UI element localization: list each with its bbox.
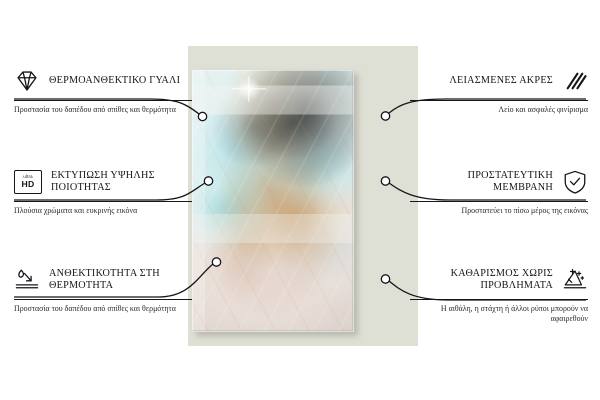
easy-cleaning-icon	[562, 267, 588, 293]
feature-divider	[14, 100, 192, 101]
ultra-hd-badge-icon: ultra HD	[14, 170, 42, 194]
feature-title: ΘΕΡΜΟΑΝΘΕΚΤΙΚΟ ΓΥΑΛΙ	[49, 75, 192, 87]
feature-head: ΠΡΟΣΤΑΤΕΥΤΙΚΗ ΜΕΜΒΡΑΝΗ	[410, 167, 588, 197]
feature-divider	[410, 299, 588, 300]
feature-polished-edges: ΛΕΙΑΣΜΕΝΕΣ ΑΚΡΕΣ Λείο και ασφαλές φινίρι…	[410, 66, 588, 115]
feature-head: ΘΕΡΜΟΑΝΘΕΚΤΙΚΟ ΓΥΑΛΙ	[14, 66, 192, 96]
feature-title: ΚΑΘΑΡΙΣΜΟΣ ΧΩΡΙΣ ΠΡΟΒΛΗΜΑΤΑ	[410, 268, 553, 291]
polished-edges-icon	[562, 68, 588, 94]
connector-dot-right-3	[381, 275, 389, 283]
feature-description: Λείο και ασφαλές φινίρισμα	[410, 105, 588, 115]
connector-dot-right-1	[381, 112, 389, 120]
connector-dot-left-2	[204, 177, 212, 185]
feature-head: ultra HD ΕΚΤΥΠΩΣΗ ΥΨΗΛΗΣ ΠΟΙΟΤΗΤΑΣ	[14, 167, 192, 197]
feature-protective-film: ΠΡΟΣΤΑΤΕΥΤΙΚΗ ΜΕΜΒΡΑΝΗ Προστατεύει το πί…	[410, 167, 588, 216]
feature-divider	[14, 299, 192, 300]
feature-heat-resistant-glass: ΘΕΡΜΟΑΝΘΕΚΤΙΚΟ ΓΥΑΛΙ Προστασία του δαπέδ…	[14, 66, 192, 115]
feature-heat-durability: ΑΝΘΕΚΤΙΚΟΤΗΤΑ ΣΤΗ ΘΕΡΜΟΤΗΤΑ Προστασία το…	[14, 265, 192, 314]
feature-divider	[14, 201, 192, 202]
feature-description: Πλούσια χρώματα και ευκρινής εικόνα	[14, 206, 192, 216]
diamond-icon	[14, 68, 40, 94]
feature-title: ΠΡΟΣΤΑΤΕΥΤΙΚΗ ΜΕΜΒΡΑΝΗ	[410, 170, 553, 193]
feature-title: ΑΝΘΕΚΤΙΚΟΤΗΤΑ ΣΤΗ ΘΕΡΜΟΤΗΤΑ	[49, 268, 192, 291]
feature-description: Προστατεύει το πίσω μέρος της εικόνας	[410, 206, 588, 216]
connector-dot-left-3	[212, 258, 220, 266]
feature-description: Προστασία του δαπέδου από σπίθες και θερ…	[14, 304, 192, 314]
feature-head: ΑΝΘΕΚΤΙΚΟΤΗΤΑ ΣΤΗ ΘΕΡΜΟΤΗΤΑ	[14, 265, 192, 295]
heat-resistance-icon	[14, 267, 40, 293]
feature-head: ΛΕΙΑΣΜΕΝΕΣ ΑΚΡΕΣ	[410, 66, 588, 96]
connector-dot-right-2	[381, 177, 389, 185]
feature-description: Η αιθάλη, η στάχτη ή άλλοι ρύποι μπορούν…	[410, 304, 588, 324]
feature-title: ΛΕΙΑΣΜΕΝΕΣ ΑΚΡΕΣ	[410, 75, 553, 87]
hd-badge-lower: HD	[21, 180, 34, 189]
feature-description: Προστασία του δαπέδου από σπίθες και θερ…	[14, 105, 192, 115]
feature-easy-cleaning: ΚΑΘΑΡΙΣΜΟΣ ΧΩΡΙΣ ΠΡΟΒΛΗΜΑΤΑ Η αιθάλη, η …	[410, 265, 588, 324]
feature-head: ΚΑΘΑΡΙΣΜΟΣ ΧΩΡΙΣ ΠΡΟΒΛΗΜΑΤΑ	[410, 265, 588, 295]
feature-high-quality-print: ultra HD ΕΚΤΥΠΩΣΗ ΥΨΗΛΗΣ ΠΟΙΟΤΗΤΑΣ Πλούσ…	[14, 167, 192, 216]
shield-check-icon	[562, 169, 588, 195]
feature-divider	[410, 100, 588, 101]
connector-dot-left-1	[198, 112, 206, 120]
feature-divider	[410, 201, 588, 202]
feature-title: ΕΚΤΥΠΩΣΗ ΥΨΗΛΗΣ ΠΟΙΟΤΗΤΑΣ	[51, 170, 192, 193]
